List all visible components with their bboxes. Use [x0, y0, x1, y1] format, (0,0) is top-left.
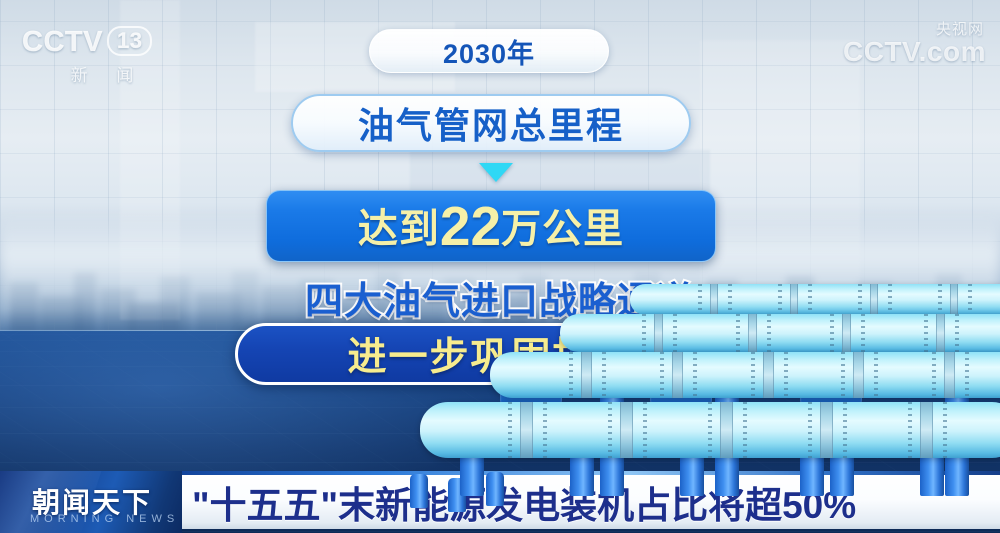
- pipeline-flange: [748, 314, 757, 352]
- pipeline-rivets: [968, 284, 972, 315]
- pipeline-rivets: [874, 352, 878, 398]
- pipeline-rivets: [643, 402, 647, 458]
- pipeline-rivets: [858, 284, 862, 315]
- pipeline-rivets: [728, 284, 732, 315]
- pipeline-rivets: [808, 284, 812, 315]
- pipeline-flange: [920, 402, 933, 458]
- chevron-down-icon: [479, 163, 513, 182]
- pipeline-rivets: [660, 352, 664, 398]
- pipeline-rivets: [543, 402, 547, 458]
- pipeline-flange: [950, 284, 958, 315]
- pipeline-flange: [581, 352, 592, 398]
- pipeline-rivets: [861, 314, 865, 352]
- metric-value-number: 22: [440, 195, 501, 257]
- pipeline-rivets: [778, 284, 782, 315]
- pipeline-support-column: [800, 452, 824, 496]
- pipeline-flange: [790, 284, 798, 315]
- pipeline-rivets: [693, 352, 697, 398]
- pipeline-segment: [630, 284, 1000, 315]
- pipeline-rivets: [888, 284, 892, 315]
- year-badge: 2030年: [369, 29, 609, 73]
- program-name-en: MORNING NEWS: [30, 513, 179, 525]
- pipeline-segment: [560, 314, 1000, 352]
- program-badge: 朝闻天下 MORNING NEWS: [0, 471, 182, 533]
- pipeline-flange: [672, 352, 683, 398]
- pipeline-flange: [620, 402, 633, 458]
- pipeline-segment: [490, 352, 1000, 398]
- pipeline-rivets: [736, 314, 740, 352]
- metric-value-suffix: 万公里: [501, 207, 624, 251]
- year-badge-label: 2030年: [443, 32, 535, 71]
- pipeline-rivets: [673, 314, 677, 352]
- metric-value-prefix: 达到: [358, 207, 440, 251]
- pipeline-flange: [520, 402, 533, 458]
- pipeline-rivets: [608, 402, 612, 458]
- pipeline-rivets: [602, 352, 606, 398]
- pipeline-rivets: [843, 402, 847, 458]
- pipeline-rivets: [751, 352, 755, 398]
- pipeline-rivets: [784, 352, 788, 398]
- pipeline-flange: [710, 284, 718, 315]
- pipeline-rivets: [698, 284, 702, 315]
- pipeline-support-column: [460, 452, 484, 496]
- pipeline-support-column: [486, 472, 504, 506]
- pipeline-flange: [944, 352, 955, 398]
- channel-logo-name: CCTV: [22, 26, 103, 58]
- pipeline-rivets: [955, 314, 959, 352]
- channel-logo-subtitle: 新 闻: [22, 61, 172, 86]
- metric-value-label: 达到22万公里: [358, 194, 624, 258]
- pipeline-support-column: [680, 452, 704, 496]
- pipeline-rivets: [642, 314, 646, 352]
- pipeline-flange: [820, 402, 833, 458]
- pipeline-support-column: [920, 452, 944, 496]
- pipeline-flange: [842, 314, 851, 352]
- pipeline-rivets: [808, 402, 812, 458]
- pipeline-flange: [936, 314, 945, 352]
- pipeline-rivets: [743, 402, 747, 458]
- pipeline-rivets: [965, 352, 969, 398]
- metric-title-label: 油气管网总里程: [358, 97, 624, 149]
- channel-logo-main: CCTV13: [22, 26, 172, 57]
- pipeline-rivets: [908, 402, 912, 458]
- pipeline-flange: [763, 352, 774, 398]
- pipeline-segment: [420, 402, 1000, 458]
- headline-text: "十五五"末新能源发电装机占比将超50%: [178, 475, 856, 529]
- pipeline-rivets: [841, 352, 845, 398]
- pipeline-rivets: [708, 402, 712, 458]
- pipeline-rivets: [943, 402, 947, 458]
- pipeline-rivets: [569, 352, 573, 398]
- pipeline-flange: [654, 314, 663, 352]
- pipeline-rivets: [924, 314, 928, 352]
- pipeline-flange: [720, 402, 733, 458]
- pipeline-flange: [853, 352, 864, 398]
- pipeline-rivets: [938, 284, 942, 315]
- channel-logo-number: 13: [107, 26, 152, 56]
- pipeline-rivets: [932, 352, 936, 398]
- broadcast-screen: CCTV13 新 闻 央视网 CCTV.com 2030年 油气管网总里程 达到…: [0, 0, 1000, 533]
- pipeline-flange: [870, 284, 878, 315]
- pipeline-rivets: [767, 314, 771, 352]
- pipeline-support-column: [570, 452, 594, 496]
- metric-title-box: 油气管网总里程: [291, 94, 691, 152]
- pipeline-rivets: [830, 314, 834, 352]
- pipeline-support-column: [410, 474, 428, 508]
- metric-value-box: 达到22万公里: [266, 190, 716, 262]
- site-watermark: 央视网 CCTV.com: [796, 18, 986, 66]
- pipeline-rivets: [508, 402, 512, 458]
- channel-logo: CCTV13 新 闻: [22, 26, 172, 84]
- site-watermark-en: CCTV.com: [796, 39, 986, 65]
